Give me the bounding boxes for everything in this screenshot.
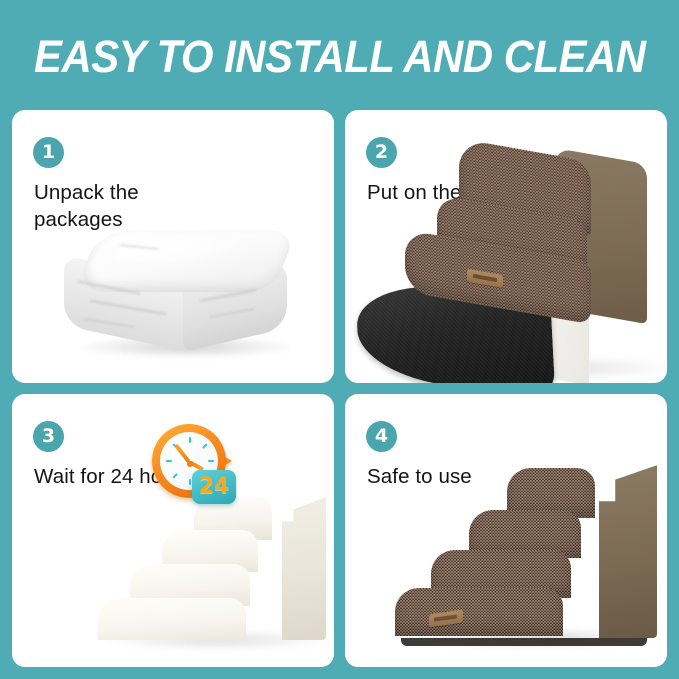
covered-pet-stairs-illustration xyxy=(395,452,657,652)
clock-24h-icon: 24 xyxy=(148,418,254,514)
step-number-badge-3: 3 xyxy=(33,421,64,452)
step-number-3: 3 xyxy=(42,427,55,446)
hours-badge-label: 24 xyxy=(199,476,230,498)
clock-tick-icon xyxy=(172,473,178,479)
brand-tag-mark xyxy=(473,274,497,282)
page-title: EASY TO INSTALL AND CLEAN xyxy=(34,34,646,79)
foam-step-1 xyxy=(98,598,246,640)
foam-package-illustration xyxy=(59,228,309,368)
poster-title-bar: EASY TO INSTALL AND CLEAN xyxy=(0,24,679,88)
stairs-base-trim xyxy=(401,638,647,646)
cover-installation-illustration xyxy=(405,150,667,383)
clock-tick-icon xyxy=(202,443,208,449)
foam-stairs-side-panel xyxy=(282,488,326,640)
step-illustration-4 xyxy=(345,394,667,667)
hours-badge: 24 xyxy=(192,470,236,504)
clock-tick-icon xyxy=(208,460,214,462)
step-illustration-1 xyxy=(12,110,334,383)
brand-tag-mark xyxy=(434,614,457,621)
infographic-poster: EASY TO INSTALL AND CLEAN 1 Unpack the p… xyxy=(0,0,679,679)
stairs-side-panel xyxy=(599,458,657,638)
step-card-4: 4 Safe to use xyxy=(345,394,667,667)
step-illustration-2 xyxy=(345,110,667,383)
stairs-step-1 xyxy=(395,588,563,636)
clock-tick-icon xyxy=(189,479,191,485)
step-card-2: 2 Put on the cover xyxy=(345,110,667,383)
clock-tick-icon xyxy=(166,460,172,462)
clock-tick-icon xyxy=(189,437,191,443)
step-card-1: 1 Unpack the packages xyxy=(12,110,334,383)
clock-center-pin xyxy=(187,461,193,467)
